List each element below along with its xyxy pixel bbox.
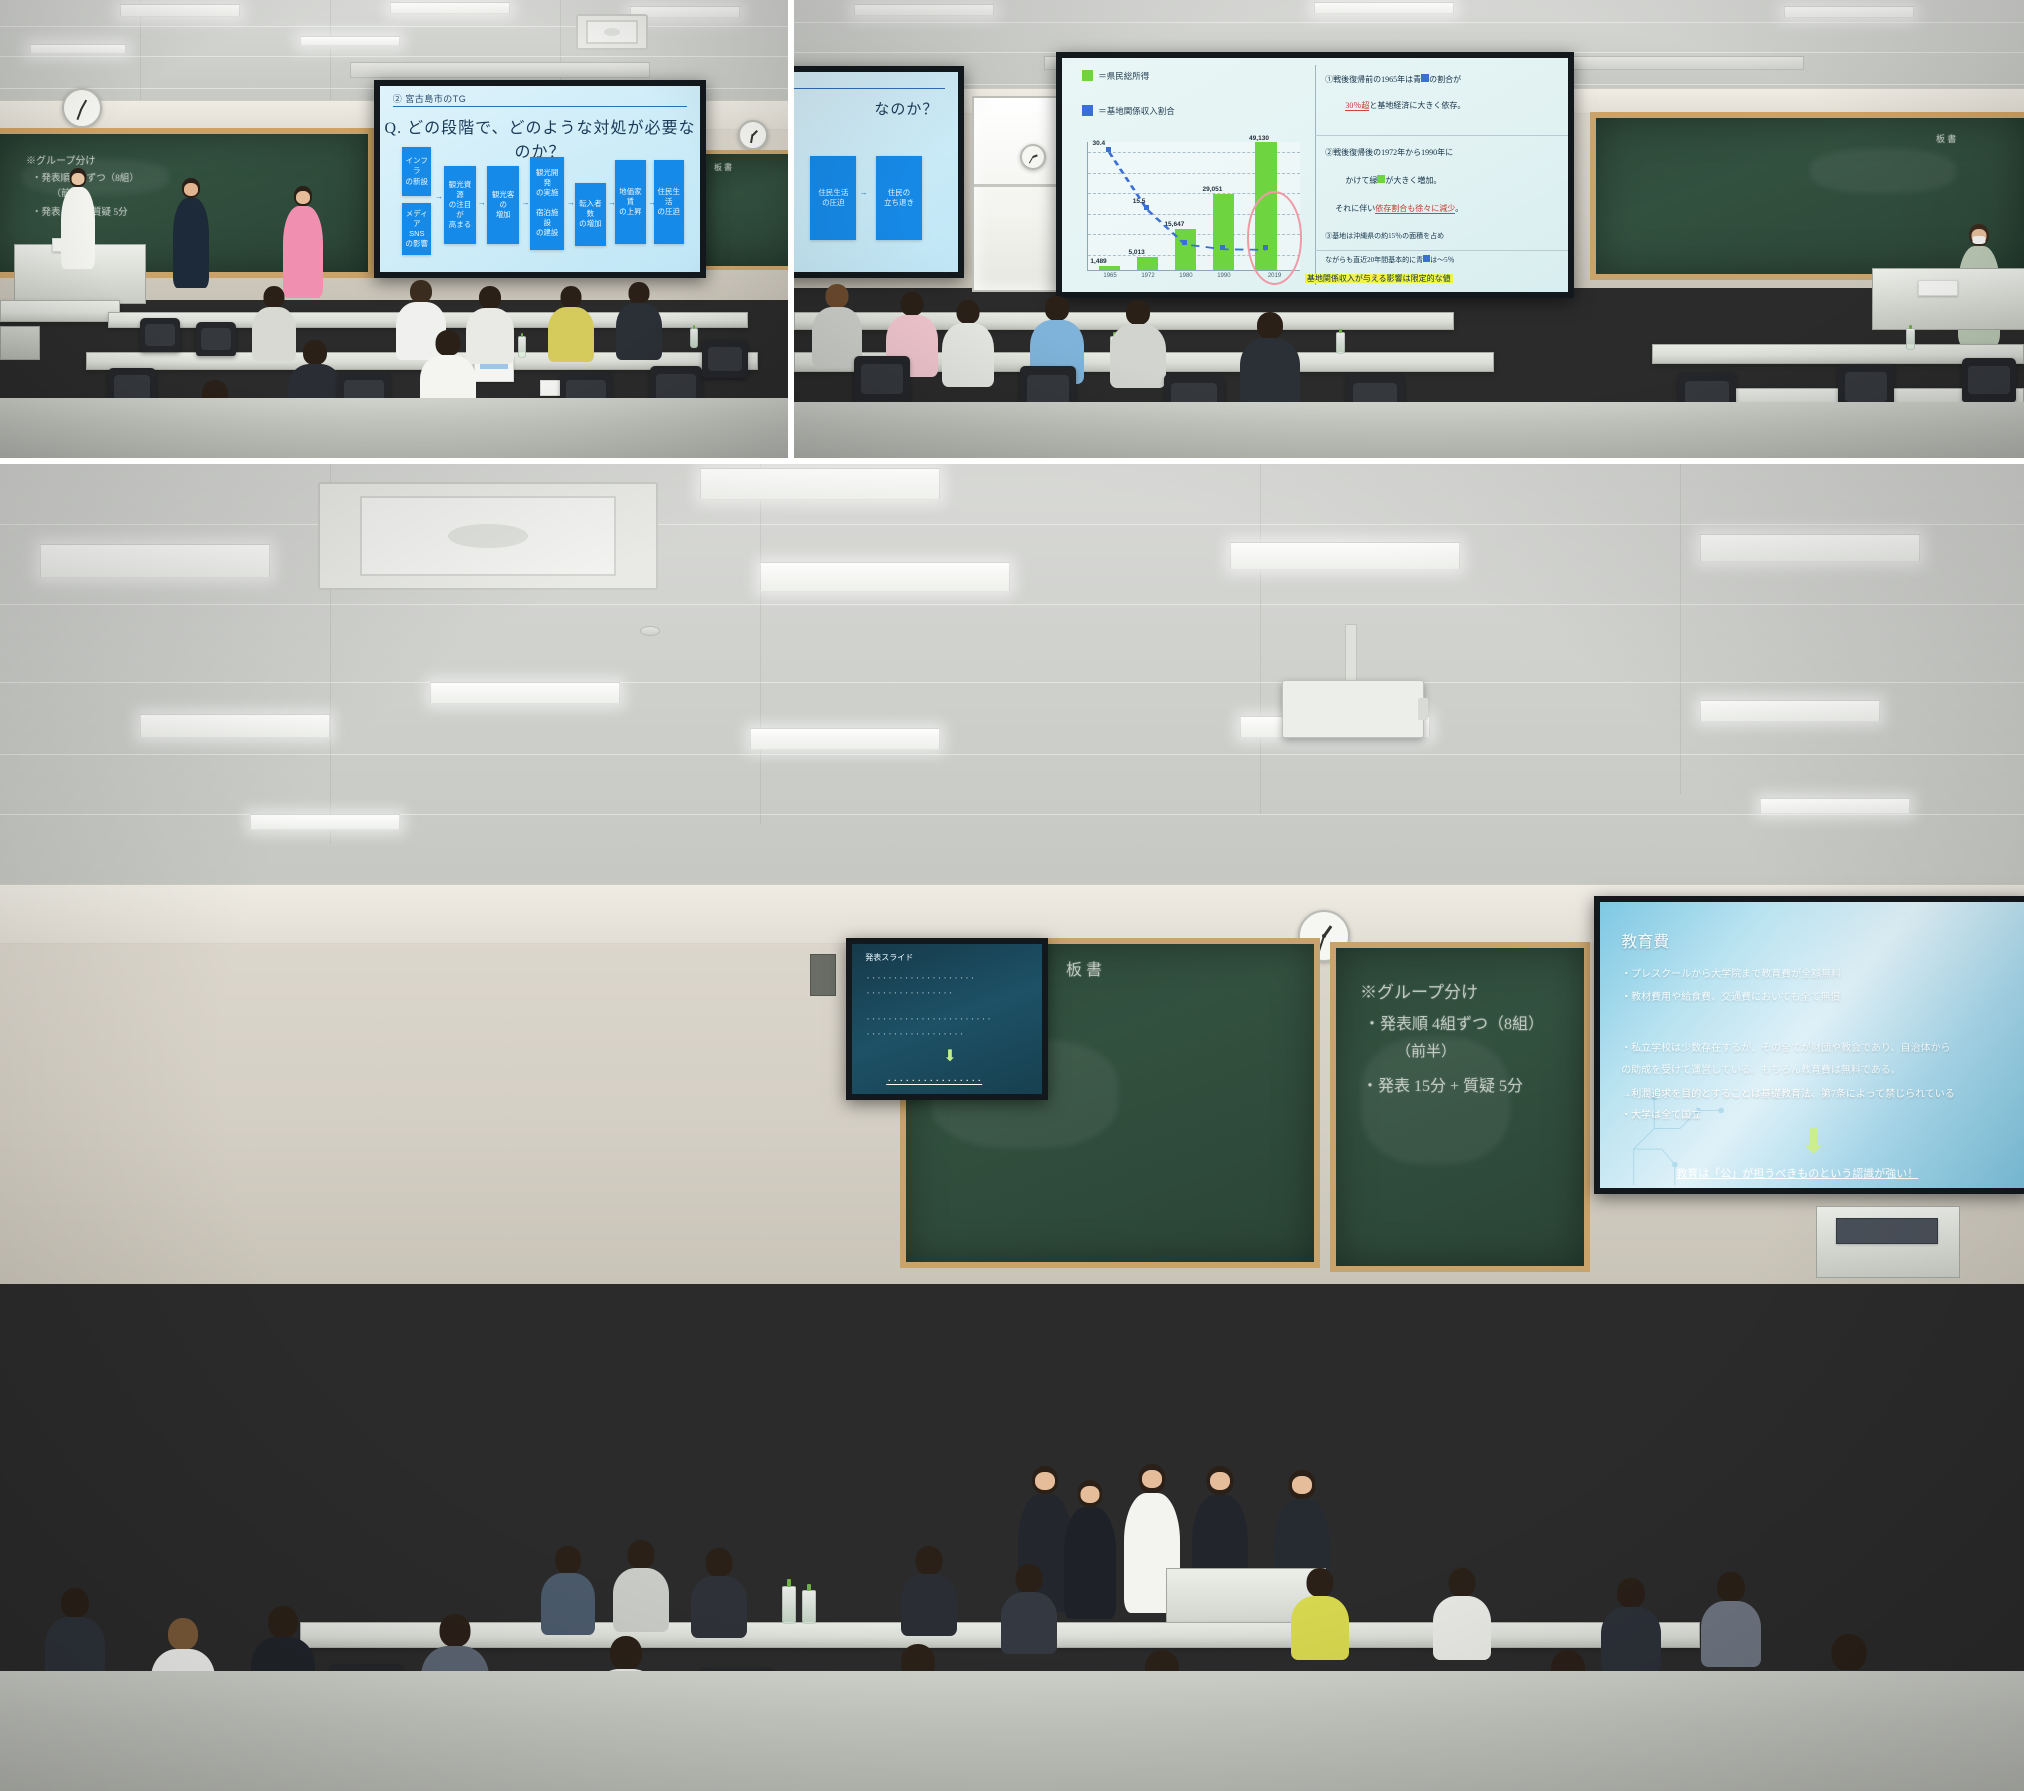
chart-xtick: 1990	[1206, 273, 1241, 279]
slide-chart: ＝県民総所得 ＝基地関係収入割合	[1062, 58, 1568, 292]
ceiling-light	[120, 4, 240, 17]
audience-member	[44, 1588, 106, 1684]
projection-screen-left-partial: なのか？ 住民生活 の圧迫 → 住民の 立ち退き	[794, 66, 964, 278]
slide-title: 教育費	[1621, 928, 1669, 952]
projection-screen-chart: ＝県民総所得 ＝基地関係収入割合	[1056, 52, 1574, 298]
water-bottle	[1336, 332, 1345, 354]
blackboard-line: ・発表 15分 + 質疑 5分	[1362, 1072, 1523, 1096]
projection-screen: ② 宮古島市のTG Q. どの段階で、どのような対処が必要なのか？ インフラ の…	[374, 80, 706, 278]
blackboard-line: ※グループ分け	[26, 152, 95, 167]
ceiling-air-conditioner	[318, 482, 658, 590]
flow-box: 観光客の 増加	[487, 166, 519, 244]
blackboard-corner-label: 板 書	[1936, 132, 1956, 145]
slide-left-conclusion: ・・・・・・・・・・・・・・・・	[886, 1076, 982, 1085]
photo-panel-top-left: ※グループ分け ・発表順 4組ずつ（8組） （前半） ・発表 15分 + 質疑 …	[0, 0, 788, 458]
slide-left-line: ・・・・・・・・・・・・・・・・・・	[865, 1030, 964, 1038]
chart-conclusion: 基地関係収入が与える影響は限定的な値	[1305, 273, 1453, 285]
ceiling-light	[700, 468, 940, 500]
chart-xtick: 1980	[1168, 273, 1203, 279]
blackboard-line: ・発表順 4組ずつ（8組）	[1364, 1010, 1544, 1034]
ceiling	[0, 464, 2024, 924]
projector-mount	[1345, 624, 1357, 684]
chart-legend-item-income: ＝県民総所得	[1082, 70, 1149, 82]
flow-box: 住民の 立ち退き	[876, 156, 922, 240]
audience-member	[942, 300, 994, 384]
water-bottle	[782, 1586, 796, 1624]
slide-flow-diagram: ② 宮古島市のTG Q. どの段階で、どのような対処が必要なのか？ インフラ の…	[380, 86, 700, 272]
audience-member	[540, 1546, 596, 1630]
chair	[854, 356, 910, 402]
ceiling-light	[1784, 6, 1914, 18]
slide-education: 教育費 ・プレスクールから大学院まで教育費が全額無料 ・教材費用や給食費、交通費…	[1600, 902, 2024, 1188]
flow-box: メディア SNS の影響	[402, 203, 431, 255]
chart-xtick: 1972	[1130, 273, 1165, 279]
wall-clock-small	[1020, 144, 1046, 170]
chart-point-label: 15.5	[1133, 198, 1146, 205]
flow-box: 観光資源 の注目が 高まる	[444, 166, 476, 244]
ceiling-light	[430, 682, 620, 704]
photo-panel-top-right: なのか？ 住民生活 の圧迫 → 住民の 立ち退き	[794, 0, 2024, 458]
projection-screen-right: 教育費 ・プレスクールから大学院まで教育費が全額無料 ・教材費用や給食費、交通費…	[1594, 896, 2024, 1194]
blackboard-corner-label: 板 書	[1066, 956, 1102, 980]
chart-note-3b: ながらも直近20年間基本的に青は～5％	[1325, 255, 1455, 266]
slide-header-rule	[393, 106, 687, 107]
audience-member	[1240, 312, 1300, 404]
ceiling-light	[1700, 700, 1880, 722]
slide-down-arrow: ⬇	[1799, 1122, 1828, 1162]
slide-bullet: ・大学は全て国立	[1621, 1106, 1701, 1121]
chart-point-label: 30.4	[1093, 140, 1106, 147]
chair	[196, 322, 236, 356]
ceiling-projector	[1282, 680, 1424, 738]
wall-speaker	[810, 954, 836, 996]
ceiling-light	[760, 562, 1010, 592]
slide-left-title: 発表スライド	[865, 952, 913, 963]
slide-header: ② 宮古島市のTG	[393, 92, 467, 105]
blackboard-corner-label: 板 書	[714, 162, 732, 173]
audience-member	[1000, 1564, 1058, 1650]
wall-clock	[62, 88, 102, 128]
flow-box: インフラ の新設	[402, 147, 431, 195]
ceiling-light	[1700, 534, 1920, 562]
audience-member	[548, 286, 594, 360]
water-bottle	[802, 1590, 816, 1624]
ceiling-light	[1760, 798, 1910, 814]
front-desk	[0, 300, 120, 322]
projection-screen-left: 発表スライド ・・・・・・・・・・・・・・・・・・・・ ・・・・・・・・・・・・…	[846, 938, 1048, 1100]
ceiling-light	[1230, 542, 1460, 570]
legend-label: ＝県民総所得	[1098, 70, 1149, 82]
water-bottle	[690, 328, 698, 348]
chair	[1962, 358, 2016, 402]
blackboard-right-section: ※グループ分け ・発表順 4組ずつ（8組） （前半） ・発表 15分 + 質疑 …	[1330, 942, 1590, 1272]
chair	[140, 318, 180, 352]
audience-member	[1290, 1568, 1350, 1656]
audience-member	[612, 1540, 670, 1628]
collage-gutter-vertical	[788, 0, 794, 458]
audience-member	[616, 282, 662, 358]
ceiling-duct	[350, 62, 650, 78]
slide-conclusion: 教育は「公」が担うべきものという認識が強い！	[1676, 1165, 1918, 1181]
desk-panel	[0, 326, 40, 360]
flow-box: 住民生活 の圧迫	[654, 160, 684, 244]
slide-bullet: ・プレスクールから大学院まで教育費が全額無料	[1621, 965, 1841, 980]
chart-xtick: 1965	[1092, 273, 1127, 279]
water-bottle	[518, 336, 526, 358]
slide-bullet: ・私立学校は少数存在するが、その全てが財団や教会であり、自治体から	[1621, 1039, 1950, 1054]
ceiling-light	[390, 2, 510, 14]
flow-box: 地価家賃 の上昇	[615, 160, 645, 244]
lectern	[1872, 268, 2024, 330]
ceiling-air-conditioner	[576, 14, 648, 50]
chart-note-1: ①戦後復帰前の1965年は青の割合が	[1325, 74, 1461, 86]
ceiling-light	[250, 814, 400, 830]
flow-box: 住民生活 の圧迫	[810, 156, 856, 240]
slide-bullet: →利潤追求を目的とすることは基礎教育法、第7条によって禁じられている	[1621, 1085, 1955, 1100]
presenter	[172, 178, 210, 286]
av-control-buttons	[1836, 1218, 1938, 1244]
slide-bullet: の助成を受けて運営している。もちろん教育費は無料である。	[1621, 1061, 1901, 1076]
ceiling-light	[30, 44, 126, 54]
wall-clock	[738, 120, 768, 150]
audience-member	[690, 1548, 748, 1634]
slide-left-line: ・・・・・・・・・・・・・・・・	[865, 989, 953, 997]
chart-highlight-circle	[1247, 191, 1303, 285]
ceiling-light	[854, 4, 994, 16]
blackboard-line: （前半）	[1396, 1040, 1456, 1061]
ceiling-light	[40, 544, 270, 578]
flow-box: 観光開発 の実施 宿泊施設 の建設	[530, 157, 564, 250]
photo-collage: ※グループ分け ・発表順 4組ずつ（8組） （前半） ・発表 15分 + 質疑 …	[0, 0, 2024, 1791]
ceiling-light	[140, 714, 330, 738]
chart-bar-label: 49,130	[1249, 135, 1269, 142]
audience-member	[1110, 300, 1166, 386]
audience-member	[1700, 1572, 1762, 1664]
laptop	[1918, 280, 1958, 296]
chart-legend-item-base: ＝基地関係収入割合	[1082, 105, 1175, 117]
presenter	[282, 186, 324, 296]
chart-note-2c: それに伴い依存割合も徐々に減少。	[1335, 203, 1463, 215]
chart-note-3a: ③基地は沖縄県の約15％の面積を占め	[1325, 231, 1444, 242]
chart-note-2a: ②戦後復帰後の1972年から1990年に	[1325, 147, 1453, 159]
audience-member	[1432, 1568, 1492, 1656]
slide-bullet: ・教材費用や給食費、交通費においても全て無償	[1621, 988, 1840, 1003]
chart-note-2b: かけて緑が大きく増加。	[1345, 175, 1441, 187]
legend-label: ＝基地関係収入割合	[1098, 105, 1175, 117]
slide-left-line: ・・・・・・・・・・・・・・・・・・・・・・・	[865, 1015, 992, 1023]
audience-member	[900, 1546, 958, 1632]
water-bottle	[1906, 328, 1915, 350]
legend-swatch-blue	[1082, 105, 1093, 116]
ceiling-light	[300, 36, 400, 46]
chair	[702, 340, 748, 378]
slide-left: 発表スライド ・・・・・・・・・・・・・・・・・・・・ ・・・・・・・・・・・・…	[852, 944, 1042, 1094]
slide-left-line: ・・・・・・・・・・・・・・・・・・・・	[865, 974, 975, 982]
presenter	[1062, 1480, 1118, 1614]
face-mask	[1973, 236, 1986, 244]
slide-flow-diagram-partial: なのか？ 住民生活 の圧迫 → 住民の 立ち退き	[794, 72, 958, 272]
slide-left-down-arrow: ⬇	[943, 1046, 956, 1066]
smoke-detector	[640, 626, 660, 636]
legend-swatch-green	[1082, 70, 1093, 81]
audience-member	[1600, 1578, 1662, 1670]
blackboard-line: ※グループ分け	[1360, 978, 1478, 1003]
ceiling-light	[750, 728, 940, 750]
blackboard-right: 板 書	[700, 150, 788, 270]
presenter	[60, 168, 96, 268]
ceiling-light	[1314, 2, 1454, 14]
audience-member	[812, 284, 862, 364]
chart-note-1b: 30％超と基地経済に大きく依存。	[1345, 100, 1465, 112]
photo-panel-bottom: 板 書 ※グループ分け ・発表順 4組ずつ（8組） （前半） ・発表 15分 +…	[0, 464, 2024, 1791]
flow-box: 転入者数 の増加	[575, 183, 605, 246]
